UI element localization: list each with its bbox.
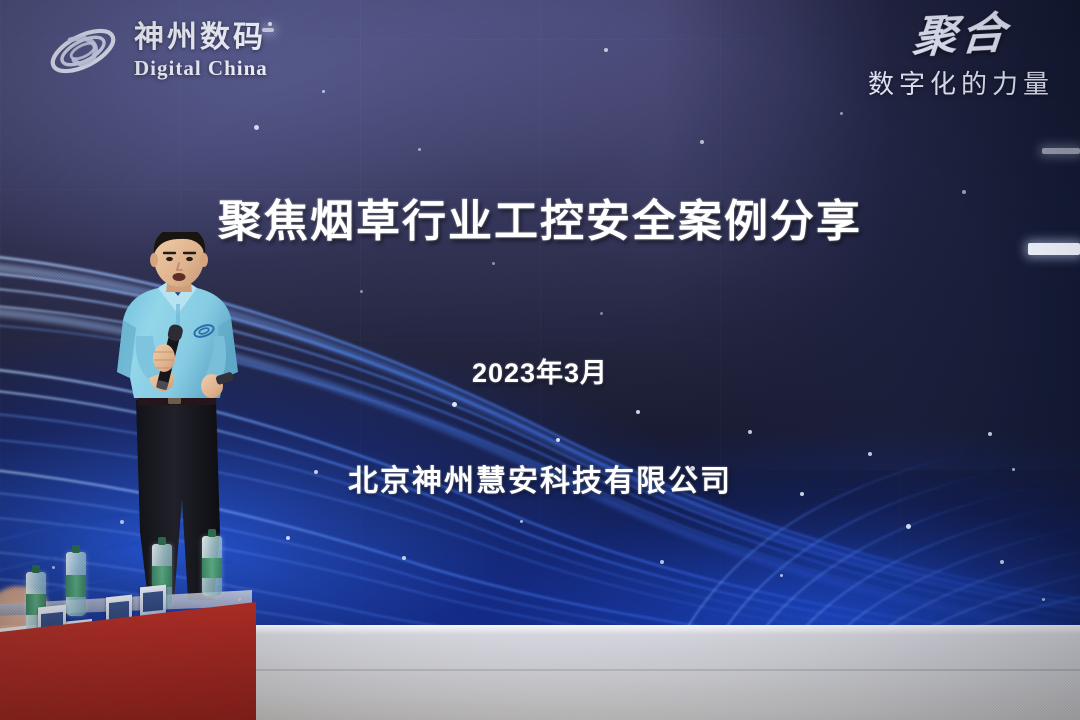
foreground-table (0, 570, 262, 720)
brand-name-cn: 神州数码 (134, 23, 268, 53)
speaker-silhouette (96, 232, 268, 624)
name-card-text (143, 591, 163, 612)
brand-name-en: Digital China (134, 58, 268, 79)
digital-china-spiral-logo-icon (44, 20, 122, 82)
wall-light-streak-topright (1042, 148, 1080, 154)
speaker-figure (96, 232, 268, 624)
water-bottle (66, 552, 86, 616)
digital-china-brand-lockup: 神州数码 Digital China (44, 20, 268, 82)
slogan-calligraphy: 聚合 (865, 9, 1056, 63)
slogan-subtitle: 数字化的力量 (868, 64, 1054, 101)
event-slogan: 聚合 数字化的力量 (868, 14, 1054, 101)
conference-photo: 神州数码 Digital China 聚合 数字化的力量 聚焦烟草行业工控安全案… (0, 0, 1080, 720)
bottle-label (202, 558, 222, 578)
water-bottle (202, 536, 222, 596)
bottle-label (66, 575, 86, 597)
